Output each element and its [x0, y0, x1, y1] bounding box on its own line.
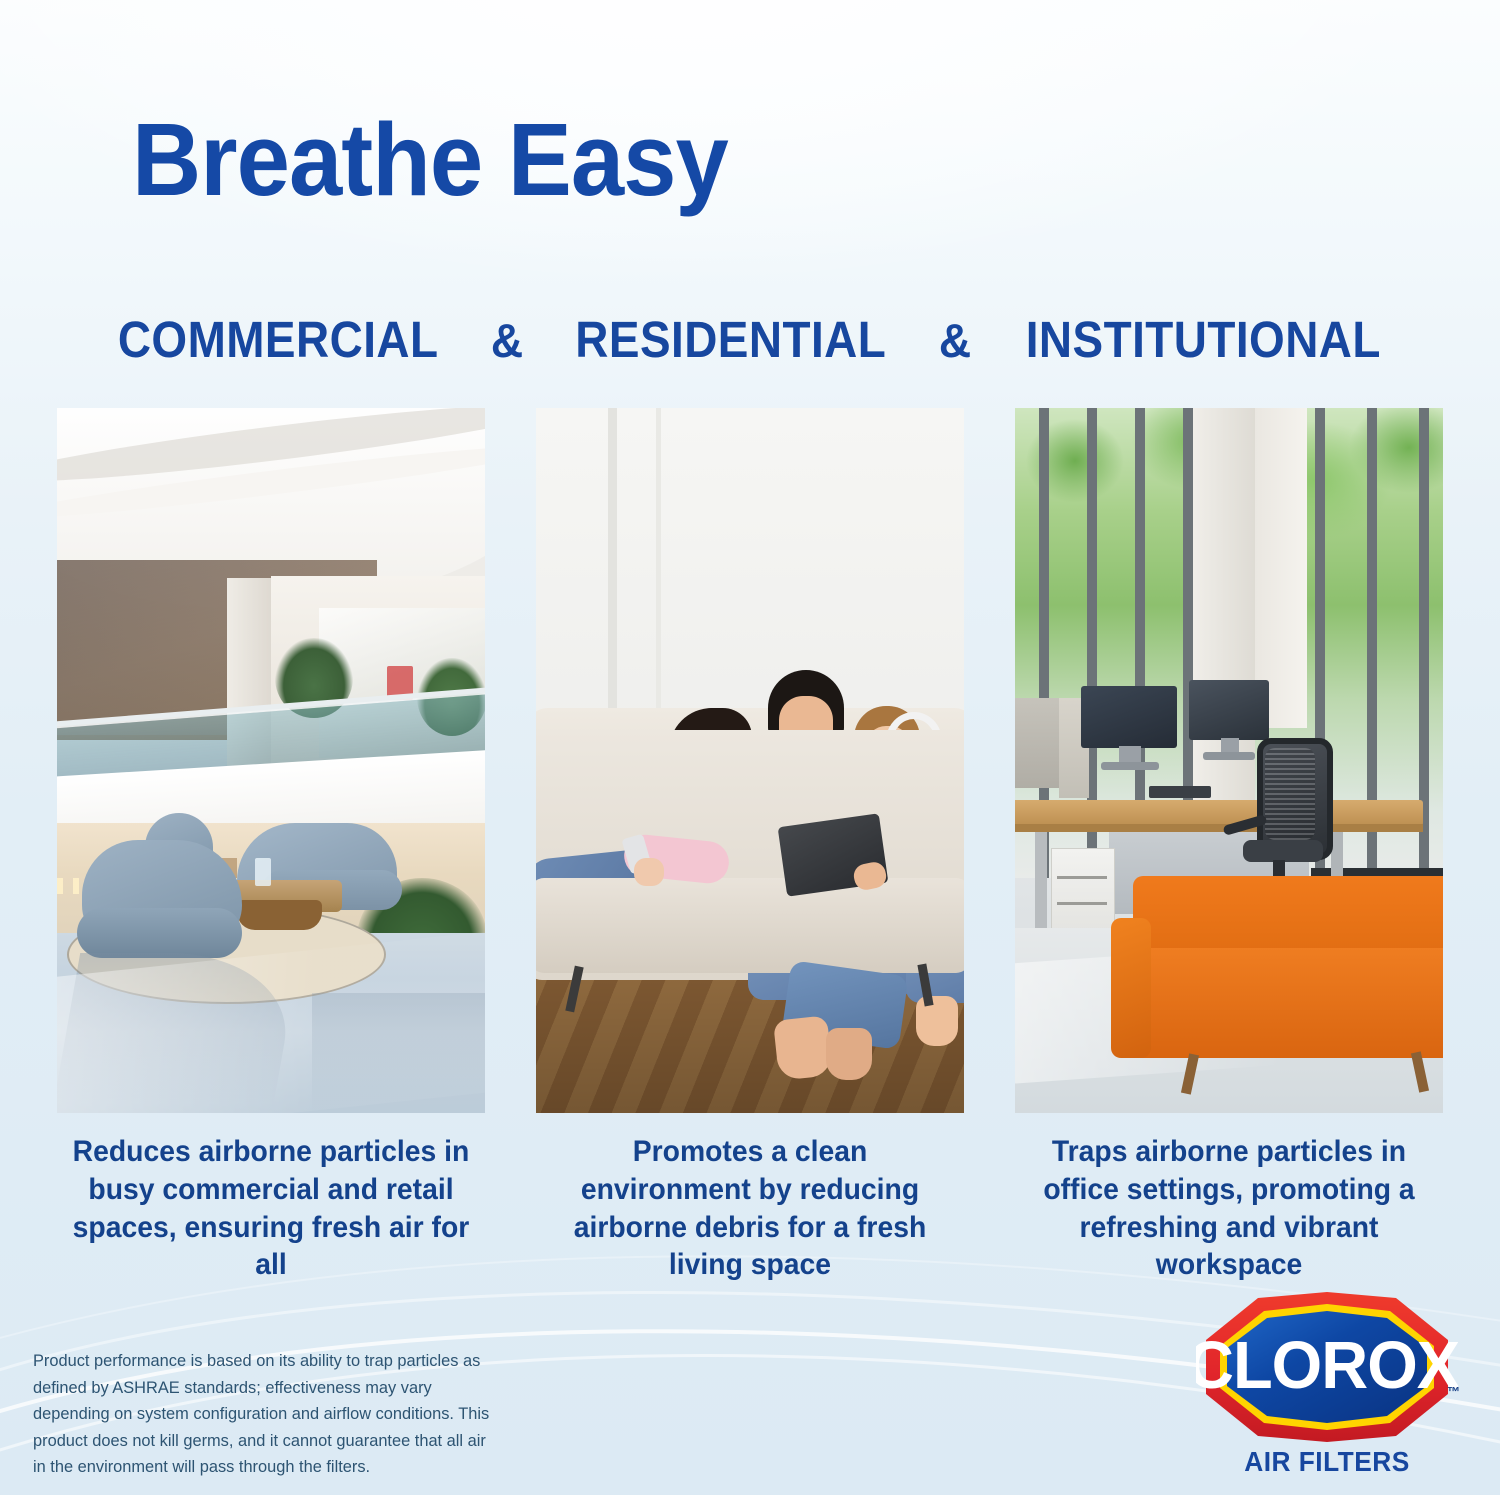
family-living-room-photo	[536, 408, 964, 1113]
segment-label-commercial: COMMERCIAL	[118, 311, 439, 368]
clorox-diamond-logo-icon: CLOROX	[1196, 1288, 1458, 1446]
svg-text:CLOROX: CLOROX	[1196, 1327, 1458, 1402]
logo-subline: AIR FILTERS	[1204, 1446, 1450, 1478]
caption-institutional: Traps airborne particles in office setti…	[1024, 1133, 1435, 1284]
photo-panel-row	[57, 408, 1443, 1113]
photo-panel-residential	[536, 408, 964, 1113]
segment-separator-2: &	[906, 313, 1003, 368]
segment-label-residential: RESIDENTIAL	[575, 311, 886, 368]
poster-canvas: Breathe Easy COMMERCIAL & RESIDENTIAL & …	[0, 0, 1500, 1495]
segment-commercial: COMMERCIAL	[118, 310, 439, 369]
segment-residential: RESIDENTIAL	[575, 310, 886, 369]
caption-commercial: Reduces airborne particles in busy comme…	[66, 1133, 477, 1284]
segment-row: COMMERCIAL & RESIDENTIAL & INSTITUTIONAL	[0, 310, 1500, 369]
segment-institutional: INSTITUTIONAL	[1025, 310, 1380, 369]
office-photo	[1015, 408, 1443, 1113]
segment-label-institutional: INSTITUTIONAL	[1025, 311, 1380, 368]
disclaimer-text: Product performance is based on its abil…	[33, 1348, 503, 1481]
caption-row: Reduces airborne particles in busy comme…	[57, 1133, 1443, 1284]
page-title: Breathe Easy	[132, 108, 728, 211]
brand-logo: CLOROX ™ AIR FILTERS	[1196, 1288, 1464, 1488]
segment-separator-1: &	[459, 313, 556, 368]
photo-panel-institutional	[1015, 408, 1443, 1113]
trademark-symbol: ™	[1447, 1384, 1460, 1399]
mall-photo	[57, 408, 485, 1113]
caption-residential: Promotes a clean environment by reducing…	[545, 1133, 956, 1284]
photo-panel-commercial	[57, 408, 485, 1113]
